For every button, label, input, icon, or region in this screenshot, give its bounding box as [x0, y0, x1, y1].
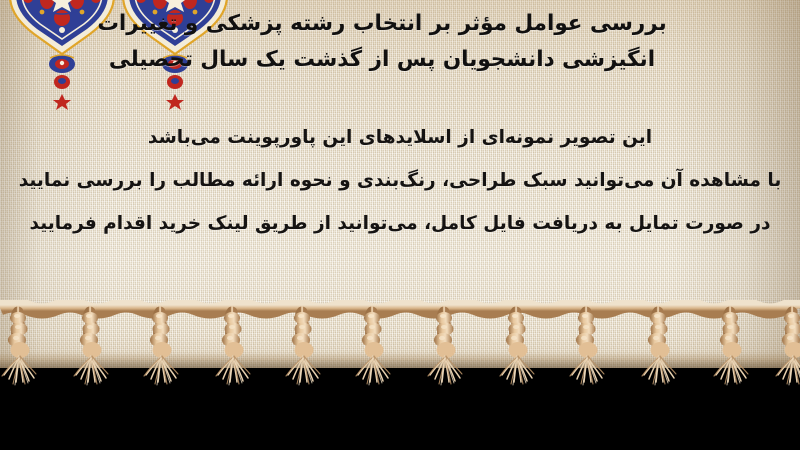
body-line-2: با مشاهده آن می‌توانید سبک طراحی، رنگ‌بن…: [8, 159, 792, 202]
body-line-1: این تصویر نمونه‌ای از اسلایدهای این پاور…: [8, 116, 792, 159]
presentation-slide: بررسی عوامل مؤثر بر انتخاب رشته پزشکی و …: [0, 0, 800, 450]
body-line-3: در صورت تمایل به دریافت فایل کامل، می‌تو…: [8, 202, 792, 245]
canvas-to-band-fade: [0, 352, 800, 368]
bottom-black-band: [0, 368, 800, 450]
page-title: بررسی عوامل مؤثر بر انتخاب رشته پزشکی و …: [0, 6, 800, 78]
slide-body-text: این تصویر نمونه‌ای از اسلایدهای این پاور…: [0, 116, 800, 245]
title-line-1: بررسی عوامل مؤثر بر انتخاب رشته پزشکی و …: [8, 6, 792, 42]
title-line-2: انگیزشی دانشجویان پس از گذشت یک سال تحصی…: [8, 42, 792, 78]
